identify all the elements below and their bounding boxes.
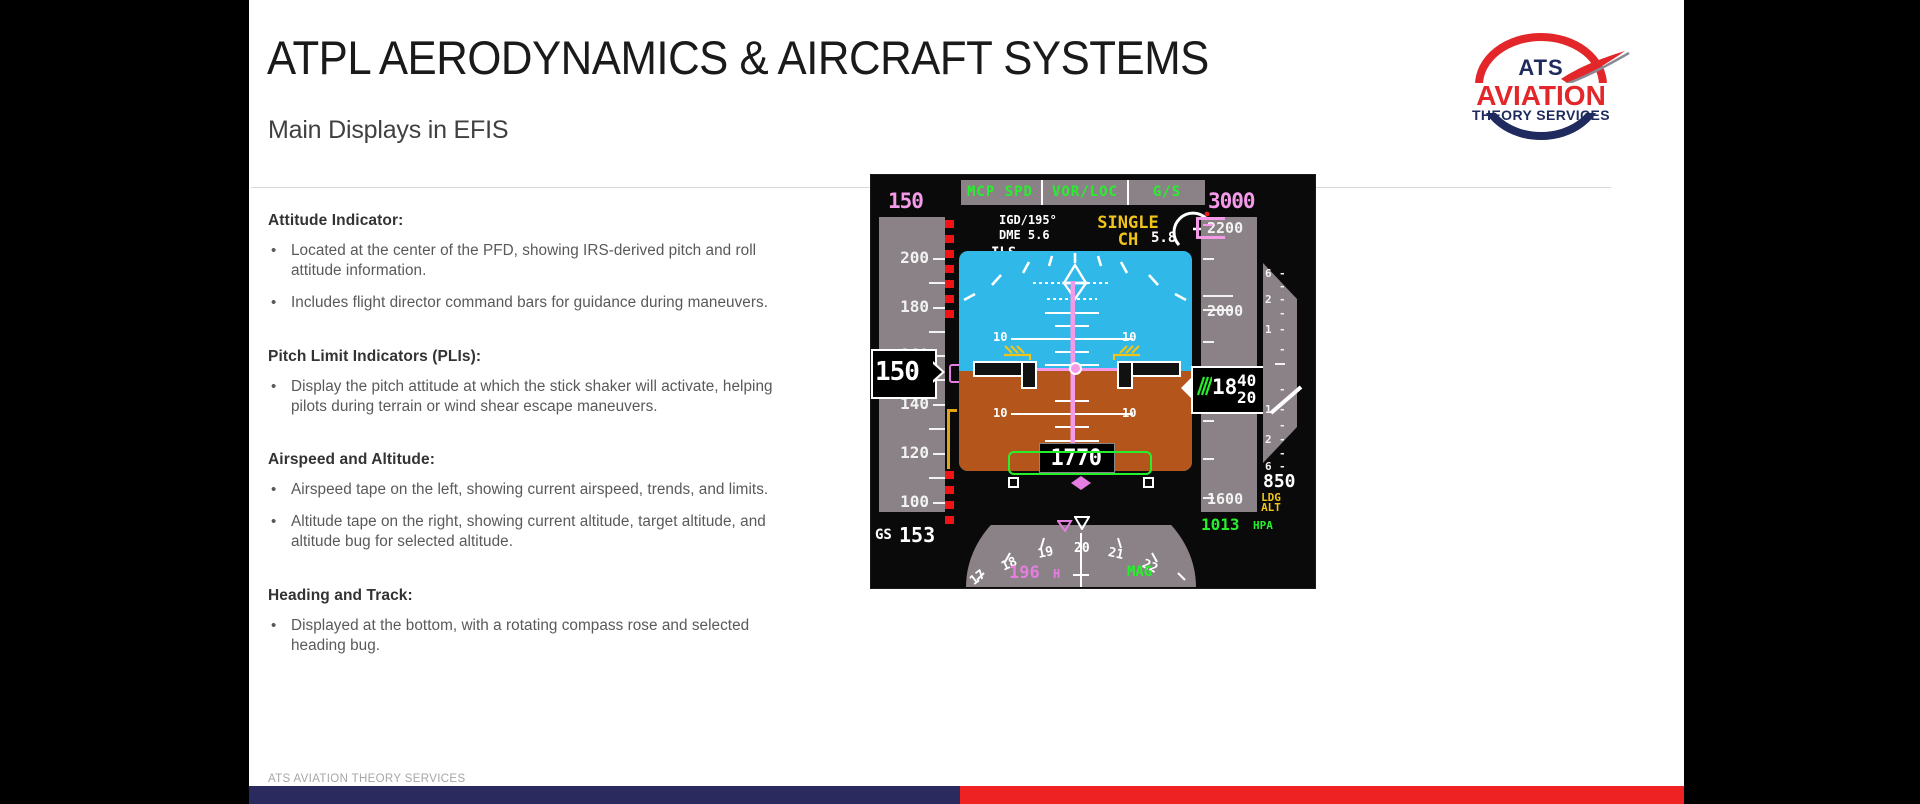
vsi-tick: - [1279, 419, 1286, 432]
airspeed-tick [933, 404, 945, 406]
airspeed-tick [929, 282, 945, 284]
altitude-bug [1196, 217, 1225, 239]
pitch-label-left-up: 10 [993, 330, 1007, 344]
stall-limit-bar [945, 501, 954, 509]
altitude-readout-pointer [1181, 377, 1192, 399]
footer-bar-navy [249, 786, 960, 804]
overspeed-limit-bar [945, 235, 954, 243]
minimum-speed-bar [947, 409, 957, 412]
section-heading-and-track: Heading and Track: • Displayed at the bo… [268, 587, 808, 656]
stall-limit-bar [945, 471, 954, 479]
svg-text:THEORY SERVICES: THEORY SERVICES [1472, 107, 1610, 123]
bullet-text: Includes flight director command bars fo… [291, 293, 808, 313]
bullet-icon: • [271, 480, 276, 500]
vsi-label: 2 [1265, 293, 1272, 306]
altitude-readout-main: 18 [1212, 375, 1237, 399]
section-heading: Attitude Indicator: [268, 212, 808, 230]
airspeed-tick [933, 502, 945, 504]
footer-bar-red [960, 786, 1684, 804]
pitch-limit-indicator-right [1111, 344, 1141, 362]
airspeed-tick-label: 180 [879, 297, 929, 316]
runway-awareness-box [1008, 451, 1152, 475]
ats-aviation-logo: ATS AVIATION THEORY SERVICES [1449, 27, 1634, 142]
vsi-tick: - [1279, 433, 1286, 446]
page-subtitle: Main Displays in EFIS [268, 116, 508, 145]
aircraft-symbol-left-stub [1021, 361, 1037, 389]
list-item: • Altitude tape on the right, showing cu… [268, 512, 808, 552]
landing-altitude-label: LDG ALT [1251, 493, 1291, 513]
airspeed-tick [929, 428, 945, 430]
section-attitude-indicator: Attitude Indicator: • Located at the cen… [268, 212, 808, 314]
overspeed-limit-bar [945, 295, 954, 303]
ground-speed-label: GS [875, 527, 892, 543]
altitude-tick [1203, 258, 1214, 260]
compass-rose: 17 18 19 20 21 22 [966, 525, 1196, 587]
vsi-tick: - [1279, 307, 1286, 320]
overspeed-limit-bar [945, 310, 954, 318]
nav-ident: IGD/195° [999, 213, 1057, 227]
attitude-indicator: 10 10 10 10 [959, 251, 1192, 471]
altitude-readout-lower: 20 [1237, 388, 1256, 407]
heading-pointer-icon [1074, 515, 1090, 529]
bullet-text: Display the pitch attitude at which the … [291, 377, 808, 417]
heading-reference-label: MAG [1127, 564, 1152, 580]
vsi-needle [1269, 385, 1303, 415]
screen: ATPL AERODYNAMICS & AIRCRAFT SYSTEMS Mai… [0, 0, 1920, 804]
overspeed-limit-bar [945, 265, 954, 273]
svg-text:ATS: ATS [1518, 55, 1563, 80]
bullet-icon: • [271, 377, 276, 397]
nav-dme: DME 5.6 [999, 228, 1050, 242]
pitch-limit-indicator-left [1003, 344, 1033, 362]
bullet-icon: • [271, 512, 276, 532]
vsi-tick [1275, 363, 1285, 365]
section-pitch-limit-indicators: Pitch Limit Indicators (PLIs): • Display… [268, 348, 808, 417]
aircraft-symbol-center [1069, 362, 1082, 375]
stall-limit-bar [945, 516, 954, 524]
ground-speed-value: 153 [899, 523, 935, 547]
bullet-icon: • [271, 241, 276, 261]
airspeed-tick [933, 258, 945, 260]
bullet-icon: • [271, 616, 276, 636]
fma-mode-speed: MCP SPD [961, 180, 1039, 205]
localizer-deviation-scale [1007, 475, 1155, 491]
section-spacer [268, 565, 808, 587]
svg-text:19: 19 [1036, 544, 1054, 562]
vsi-tick: - [1279, 343, 1286, 356]
airspeed-tick-label: 200 [879, 248, 929, 267]
slide-footer: ATS AVIATION THEORY SERVICES [268, 773, 465, 785]
baro-setting-unit: HPA [1253, 519, 1273, 532]
airspeed-tick-label: 120 [879, 443, 929, 462]
altitude-bug-tick [1203, 224, 1213, 226]
airspeed-tick [933, 453, 945, 455]
overspeed-limit-bar [945, 280, 954, 288]
vsi-tick: - [1279, 267, 1286, 280]
vsi-tick: - [1279, 323, 1286, 336]
bullet-icon: • [271, 293, 276, 313]
altitude-tick [1203, 309, 1233, 311]
altitude-tick [1203, 458, 1214, 460]
baro-setting-value: 1013 [1201, 515, 1240, 534]
list-item: • Displayed at the bottom, with a rotati… [268, 616, 808, 656]
vsi-label: 1 [1265, 323, 1272, 336]
selected-heading-value: 196 [1009, 563, 1040, 583]
airspeed-tick-label: 100 [879, 492, 929, 511]
content-column: Attitude Indicator: • Located at the cen… [268, 212, 808, 668]
bullet-text: Displayed at the bottom, with a rotating… [291, 616, 808, 656]
vsi-label: 2 [1265, 433, 1272, 446]
section-heading: Airspeed and Altitude: [268, 451, 808, 469]
pitch-label-left-down: 10 [993, 406, 1007, 420]
airspeed-tick [933, 307, 945, 309]
bullet-text: Located at the center of the PFD, showin… [291, 241, 808, 281]
terrain-altitude: 850 [1263, 471, 1296, 492]
slide-canvas: ATPL AERODYNAMICS & AIRCRAFT SYSTEMS Mai… [249, 0, 1684, 804]
heading-unit-label: H [1053, 567, 1060, 581]
section-spacer [268, 429, 808, 451]
altitude-tape [1201, 217, 1257, 512]
altitude-tick [1203, 295, 1233, 297]
fma-mode-roll: VOR/LOC [1045, 180, 1125, 205]
selected-airspeed: 150 [888, 189, 923, 213]
list-item: • Airspeed tape on the left, showing cur… [268, 480, 808, 500]
vsi-tick: - [1279, 447, 1286, 460]
list-item: • Includes flight director command bars … [268, 293, 808, 313]
minimum-speed-bar [947, 409, 950, 469]
track-bug-icon [1057, 517, 1073, 529]
vsi-tick: - [1279, 280, 1286, 293]
dme-distance: 5.8 [1151, 230, 1176, 246]
fma-mode-pitch: G/S [1129, 180, 1205, 205]
airspeed-readout-value: 150 [875, 357, 929, 387]
vsi-tick: - [1279, 293, 1286, 306]
page-title: ATPL AERODYNAMICS & AIRCRAFT SYSTEMS [267, 30, 1290, 85]
section-spacer [268, 326, 808, 348]
overspeed-limit-bar [945, 250, 954, 258]
stall-limit-bar [945, 486, 954, 494]
vsi-label: 6 [1265, 267, 1272, 280]
bullet-text: Altitude tape on the right, showing curr… [291, 512, 808, 552]
airspeed-pointer-inner [933, 364, 942, 380]
list-item: • Display the pitch attitude at which th… [268, 377, 808, 417]
overspeed-limit-bar [945, 220, 954, 228]
altitude-tick-label: 2000 [1207, 302, 1243, 320]
airspeed-tick [929, 331, 945, 333]
altitude-tick-label: 1600 [1207, 490, 1243, 508]
airspeed-tick [929, 477, 945, 479]
fma-divider [1041, 180, 1043, 205]
aircraft-symbol-right-stub [1117, 361, 1133, 389]
altitude-tick [1203, 420, 1214, 422]
pitch-label-right-down: 10 [1122, 406, 1136, 420]
bullet-text: Airspeed tape on the left, showing curre… [291, 480, 808, 500]
pitch-label-right-up: 10 [1122, 330, 1136, 344]
section-heading: Heading and Track: [268, 587, 808, 605]
altitude-tick [1203, 341, 1214, 343]
section-airspeed-and-altitude: Airspeed and Altitude: • Airspeed tape o… [268, 451, 808, 553]
list-item: • Located at the center of the PFD, show… [268, 241, 808, 281]
pfd-image: MCP SPD VOR/LOC G/S 150 3000 200 180 160… [870, 174, 1316, 589]
section-heading: Pitch Limit Indicators (PLIs): [268, 348, 808, 366]
altitude-trend-hatching [1196, 375, 1212, 397]
